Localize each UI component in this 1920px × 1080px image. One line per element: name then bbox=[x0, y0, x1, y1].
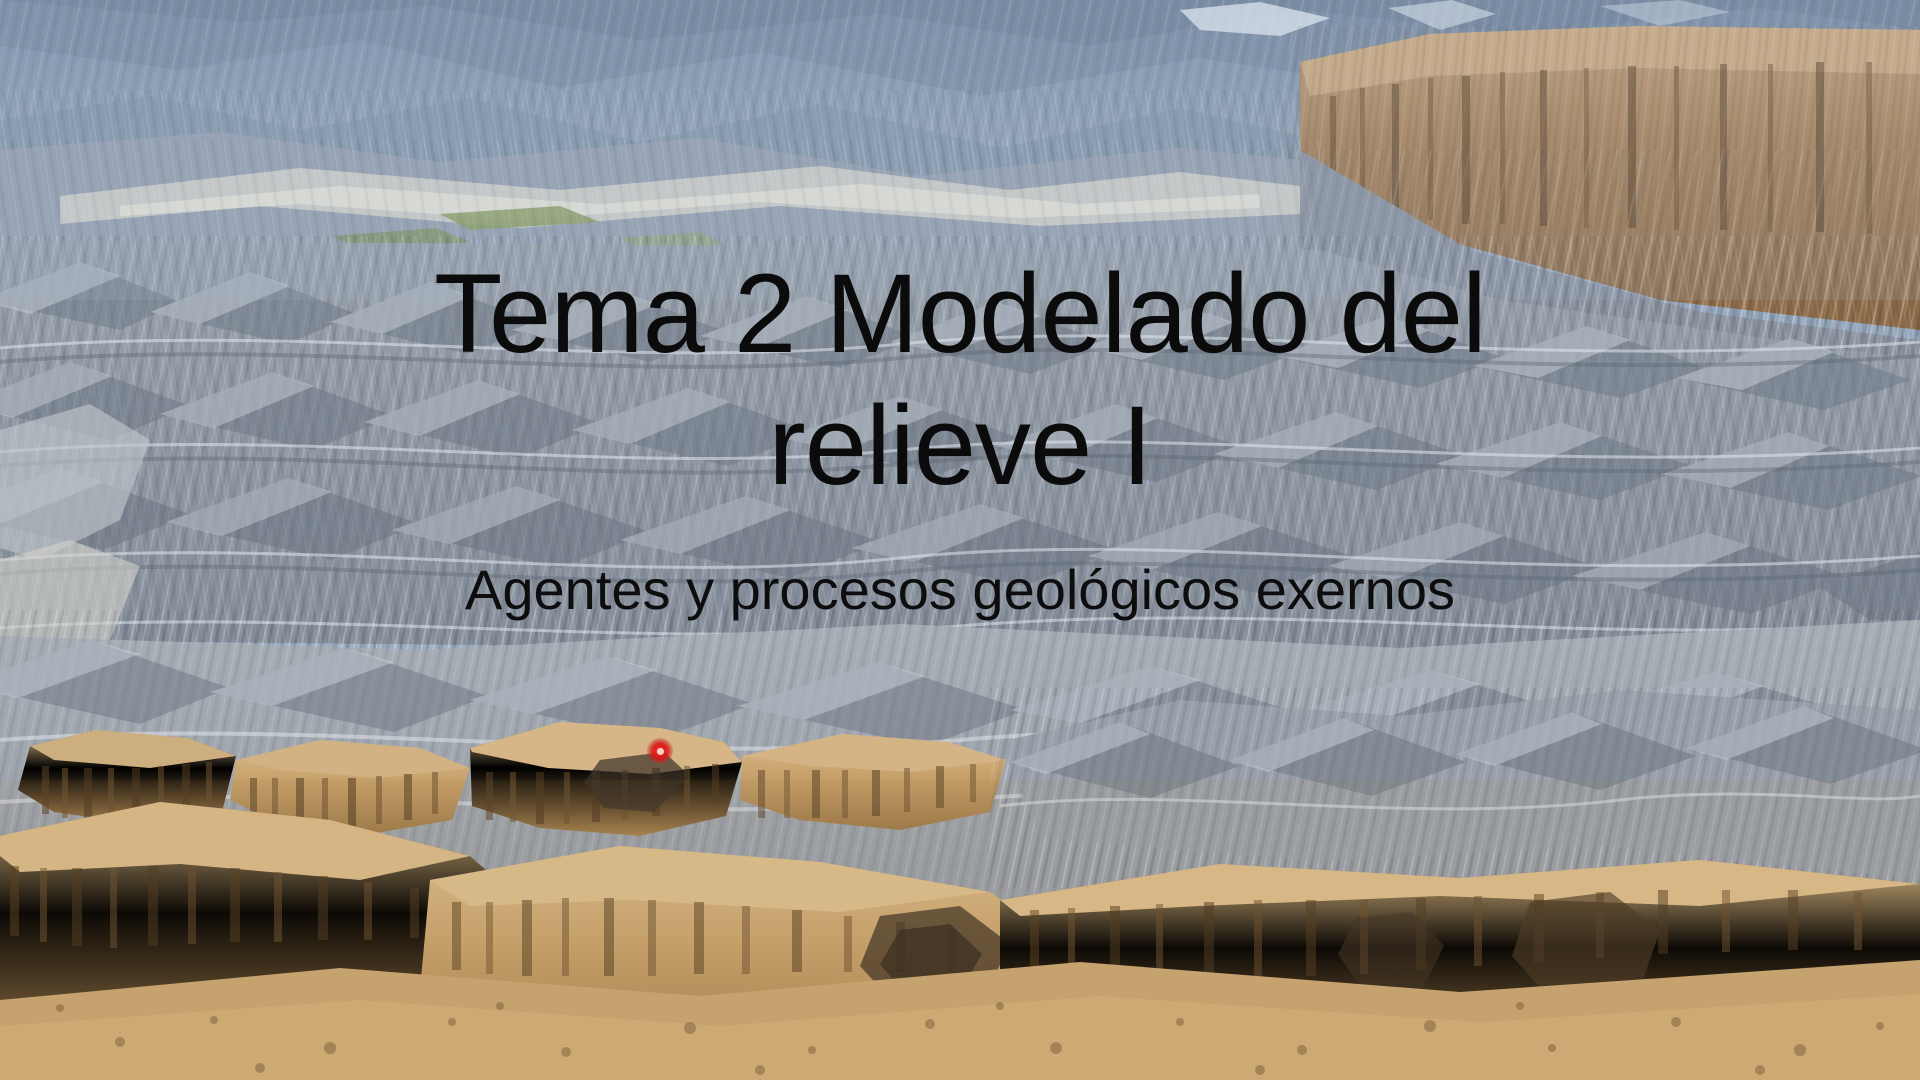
laser-pointer-dot bbox=[647, 738, 673, 764]
background-photo bbox=[0, 0, 1920, 1080]
presentation-slide: Tema 2 Modelado del relieve I Agentes y … bbox=[0, 0, 1920, 1080]
